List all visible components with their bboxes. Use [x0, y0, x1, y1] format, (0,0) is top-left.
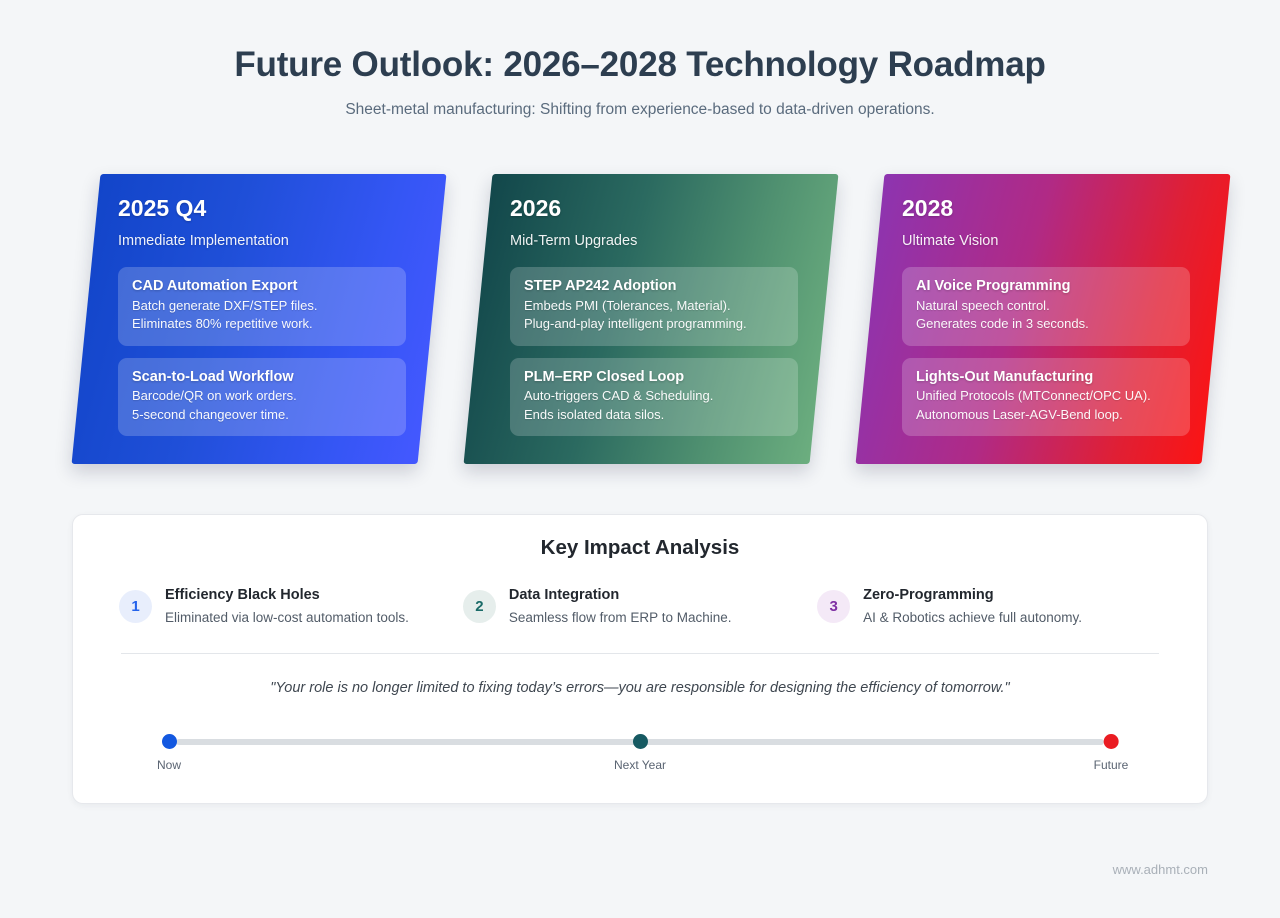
roadmap-cards: 2025 Q4 Immediate Implementation CAD Aut… — [0, 174, 1280, 474]
card-item[interactable]: PLM–ERP Closed Loop Auto-triggers CAD & … — [510, 358, 798, 436]
impact-badge-2: 2 — [463, 590, 496, 623]
roadmap-infographic: Future Outlook: 2026–2028 Technology Roa… — [0, 0, 1280, 918]
impact-item-list: 1 Efficiency Black Holes Eliminated via … — [73, 586, 1207, 627]
timeline-node-next-year[interactable]: Next Year — [614, 734, 666, 772]
card-item-line-2: 5-second changeover time. — [132, 406, 392, 424]
impact-item-text: Zero-Programming AI & Robotics achieve f… — [863, 586, 1082, 627]
closing-quote: "Your role is no longer limited to fixin… — [73, 680, 1207, 696]
impact-badge-3: 3 — [817, 590, 850, 623]
card-item[interactable]: STEP AP242 Adoption Embeds PMI (Toleranc… — [510, 267, 798, 345]
timeline[interactable]: Now Next Year Future — [169, 734, 1111, 780]
card-item-line-2: Autonomous Laser-AGV-Bend loop. — [916, 406, 1176, 424]
impact-item-description: Eliminated via low-cost automation tools… — [165, 608, 409, 627]
card-item-line-2: Ends isolated data silos. — [524, 406, 784, 424]
roadmap-card-2025q4[interactable]: 2025 Q4 Immediate Implementation CAD Aut… — [86, 174, 432, 464]
timeline-label: Future — [1094, 758, 1129, 772]
card-item-title: Lights-Out Manufacturing — [916, 368, 1176, 388]
card-item-line-2: Eliminates 80% repetitive work. — [132, 315, 392, 333]
card-item-title: Scan-to-Load Workflow — [132, 368, 392, 388]
card-content: 2028 Ultimate Vision AI Voice Programmin… — [870, 174, 1216, 464]
card-item[interactable]: Scan-to-Load Workflow Barcode/QR on work… — [118, 358, 406, 436]
impact-heading: Key Impact Analysis — [73, 536, 1207, 560]
card-item-line-1: Embeds PMI (Tolerances, Material). — [524, 297, 784, 315]
page-subtitle: Sheet-metal manufacturing: Shifting from… — [0, 101, 1280, 119]
roadmap-card-2028[interactable]: 2028 Ultimate Vision AI Voice Programmin… — [870, 174, 1216, 464]
timeline-node-future[interactable]: Future — [1094, 734, 1129, 772]
impact-item-2[interactable]: 2 Data Integration Seamless flow from ER… — [463, 586, 817, 627]
card-item-line-1: Barcode/QR on work orders. — [132, 387, 392, 405]
card-item-title: CAD Automation Export — [132, 277, 392, 297]
timeline-node-now[interactable]: Now — [157, 734, 181, 772]
card-item-line-1: Unified Protocols (MTConnect/OPC UA). — [916, 387, 1176, 405]
page-title: Future Outlook: 2026–2028 Technology Roa… — [0, 44, 1280, 86]
key-impact-panel: Key Impact Analysis 1 Efficiency Black H… — [72, 514, 1208, 804]
card-item-line-2: Plug-and-play intelligent programming. — [524, 315, 784, 333]
card-item-list: STEP AP242 Adoption Embeds PMI (Toleranc… — [510, 267, 798, 436]
card-item-line-1: Auto-triggers CAD & Scheduling. — [524, 387, 784, 405]
impact-item-text: Data Integration Seamless flow from ERP … — [509, 586, 732, 627]
timeline-dot-icon — [632, 734, 647, 749]
impact-item-3[interactable]: 3 Zero-Programming AI & Robotics achieve… — [817, 586, 1161, 627]
impact-item-title: Efficiency Black Holes — [165, 586, 409, 606]
timeline-dot-icon — [1104, 734, 1119, 749]
card-year: 2026 — [510, 196, 798, 221]
roadmap-card-2026[interactable]: 2026 Mid-Term Upgrades STEP AP242 Adopti… — [478, 174, 824, 464]
card-item[interactable]: Lights-Out Manufacturing Unified Protoco… — [902, 358, 1190, 436]
card-item-list: CAD Automation Export Batch generate DXF… — [118, 267, 406, 436]
impact-item-title: Data Integration — [509, 586, 732, 606]
impact-item-1[interactable]: 1 Efficiency Black Holes Eliminated via … — [119, 586, 463, 627]
card-phase: Immediate Implementation — [118, 233, 406, 249]
card-item-title: AI Voice Programming — [916, 277, 1176, 297]
impact-item-description: Seamless flow from ERP to Machine. — [509, 608, 732, 627]
card-item-title: STEP AP242 Adoption — [524, 277, 784, 297]
card-item[interactable]: CAD Automation Export Batch generate DXF… — [118, 267, 406, 345]
impact-item-description: AI & Robotics achieve full autonomy. — [863, 608, 1082, 627]
card-item-line-2: Generates code in 3 seconds. — [916, 315, 1176, 333]
impact-item-text: Efficiency Black Holes Eliminated via lo… — [165, 586, 409, 627]
card-content: 2026 Mid-Term Upgrades STEP AP242 Adopti… — [478, 174, 824, 464]
timeline-dot-icon — [161, 734, 176, 749]
footer-site-url: www.adhmt.com — [1113, 862, 1208, 877]
card-item-line-1: Batch generate DXF/STEP files. — [132, 297, 392, 315]
section-divider — [121, 653, 1159, 654]
card-phase: Mid-Term Upgrades — [510, 233, 798, 249]
card-year: 2028 — [902, 196, 1190, 221]
card-item[interactable]: AI Voice Programming Natural speech cont… — [902, 267, 1190, 345]
card-item-list: AI Voice Programming Natural speech cont… — [902, 267, 1190, 436]
page-header: Future Outlook: 2026–2028 Technology Roa… — [0, 0, 1280, 119]
card-phase: Ultimate Vision — [902, 233, 1190, 249]
timeline-label: Next Year — [614, 758, 666, 772]
timeline-label: Now — [157, 758, 181, 772]
card-item-title: PLM–ERP Closed Loop — [524, 368, 784, 388]
card-year: 2025 Q4 — [118, 196, 406, 221]
card-item-line-1: Natural speech control. — [916, 297, 1176, 315]
impact-item-title: Zero-Programming — [863, 586, 1082, 606]
impact-badge-1: 1 — [119, 590, 152, 623]
card-content: 2025 Q4 Immediate Implementation CAD Aut… — [86, 174, 432, 464]
